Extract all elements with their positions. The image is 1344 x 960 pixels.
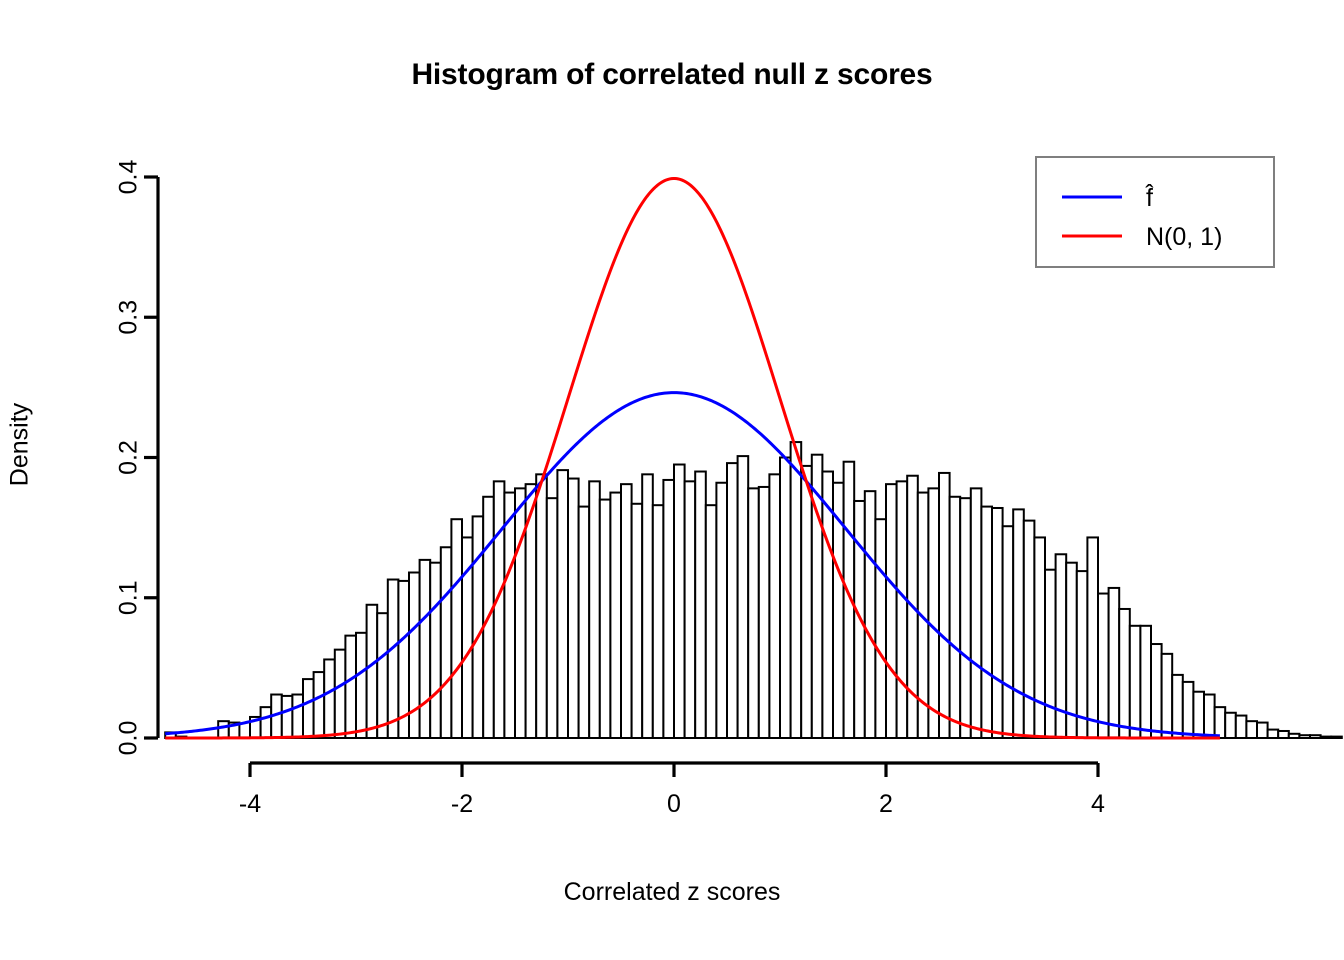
histogram-bar [1109, 588, 1120, 738]
histogram-bar [504, 493, 515, 738]
y-axis-tick-label: 0.3 [115, 300, 143, 335]
histogram-bar [430, 563, 441, 738]
legend[interactable]: f̂N(0, 1) [1036, 157, 1274, 267]
histogram-bar [791, 442, 802, 738]
histogram-bar [1225, 713, 1236, 738]
histogram-bar [589, 481, 600, 738]
histogram-bar [642, 474, 653, 738]
histogram-bar [388, 580, 399, 738]
legend-label: N(0, 1) [1146, 223, 1222, 251]
histogram-bar [292, 695, 303, 738]
histogram-bar [1172, 675, 1183, 738]
histogram-bar [875, 519, 886, 738]
histogram-bar [928, 488, 939, 738]
histogram-bar [324, 659, 335, 738]
histogram-bar [769, 474, 780, 738]
histogram-bar [579, 507, 590, 738]
histogram-bar [1098, 594, 1109, 738]
histogram-bar [897, 481, 908, 738]
x-axis: -4-2024 [239, 763, 1105, 818]
histogram-bar [515, 488, 526, 738]
histogram-bar [716, 483, 727, 738]
histogram-bar [1034, 537, 1045, 738]
plot-canvas: 0.00.10.20.30.4 -4-2024 f̂N(0, 1) [0, 0, 1344, 960]
x-axis-tick-label: 0 [667, 790, 681, 818]
histogram-bar [1257, 723, 1268, 738]
histogram-bar [1299, 735, 1310, 738]
x-axis-tick-label: -4 [239, 790, 261, 818]
histogram-bar [610, 493, 621, 738]
histogram-bar [727, 463, 738, 738]
histogram-bar [1045, 570, 1056, 738]
histogram-bar [547, 498, 558, 738]
histogram-bar [1204, 695, 1215, 738]
histogram-bar [314, 672, 325, 738]
histogram-bar [1024, 521, 1035, 738]
histogram-bar [1268, 730, 1279, 738]
histogram-bar [865, 491, 876, 738]
histogram-bar [282, 696, 293, 738]
histogram-bar [1151, 644, 1162, 738]
histogram-bar [1130, 626, 1141, 738]
histogram-bar [1183, 682, 1194, 738]
histogram-bar [494, 481, 505, 738]
histogram-bar [759, 487, 770, 738]
histogram-bar [632, 504, 643, 738]
histogram-bar [1140, 626, 1151, 738]
histogram-bar [1077, 571, 1088, 738]
histogram-bar [1246, 721, 1257, 738]
histogram-bar [950, 497, 961, 738]
histogram-bar [674, 465, 685, 738]
histogram-bar [1331, 737, 1342, 738]
histogram-bar [1119, 609, 1130, 738]
histogram-bar [345, 636, 356, 738]
x-axis-tick-label: 4 [1091, 790, 1105, 818]
histogram-bar [801, 466, 812, 738]
histogram-bar [971, 488, 982, 738]
histogram-bar [1087, 537, 1098, 738]
histogram-bar [939, 473, 950, 738]
y-axis-tick-label: 0.2 [115, 440, 143, 475]
histogram-bar [1003, 526, 1014, 738]
histogram-bar [568, 479, 579, 738]
y-axis: 0.00.10.20.30.4 [115, 160, 158, 756]
histogram-bar [1193, 692, 1204, 738]
histogram-bar [600, 500, 611, 738]
y-axis-tick-label: 0.4 [115, 160, 143, 195]
histogram-bar [621, 484, 632, 738]
histogram-bar [367, 605, 378, 738]
histogram-bar [1289, 734, 1300, 738]
histogram-bar [261, 707, 272, 738]
histogram-bar [685, 481, 696, 738]
histogram-bar [1236, 716, 1247, 738]
histogram-bars [165, 442, 1344, 738]
histogram-bar [1162, 654, 1173, 738]
histogram-bar [981, 507, 992, 738]
x-axis-tick-label: -2 [451, 790, 473, 818]
histogram-bar [356, 633, 367, 738]
legend-label: f̂ [1144, 183, 1154, 212]
histogram-bar [451, 519, 462, 738]
histogram-bar [377, 613, 388, 738]
y-axis-tick-label: 0.0 [115, 721, 143, 756]
histogram-bar [738, 456, 749, 738]
histogram-bar [653, 505, 664, 738]
histogram-bar [1321, 737, 1332, 738]
histogram-bar [303, 679, 314, 738]
histogram-bar [748, 488, 759, 738]
histogram-bar [420, 560, 431, 738]
histogram-bar [1215, 707, 1226, 738]
histogram-bar [706, 505, 717, 738]
histogram-bar [1278, 731, 1289, 738]
histogram-bar [992, 508, 1003, 738]
histogram-bar [557, 470, 568, 738]
y-axis-tick-label: 0.1 [115, 580, 143, 615]
x-axis-tick-label: 2 [879, 790, 893, 818]
histogram-bar [695, 472, 706, 738]
histogram-bar [780, 458, 791, 739]
histogram-bar [536, 474, 547, 738]
histogram-bar [960, 498, 971, 738]
histogram-bar [1310, 735, 1321, 738]
histogram-bar [441, 547, 452, 738]
histogram-bar [886, 484, 897, 738]
histogram-bar [1013, 509, 1024, 738]
histogram-bar [663, 480, 674, 738]
histogram-figure: Histogram of correlated null z scores Co… [0, 0, 1344, 960]
histogram-bar [335, 650, 346, 738]
histogram-bar [218, 721, 229, 738]
